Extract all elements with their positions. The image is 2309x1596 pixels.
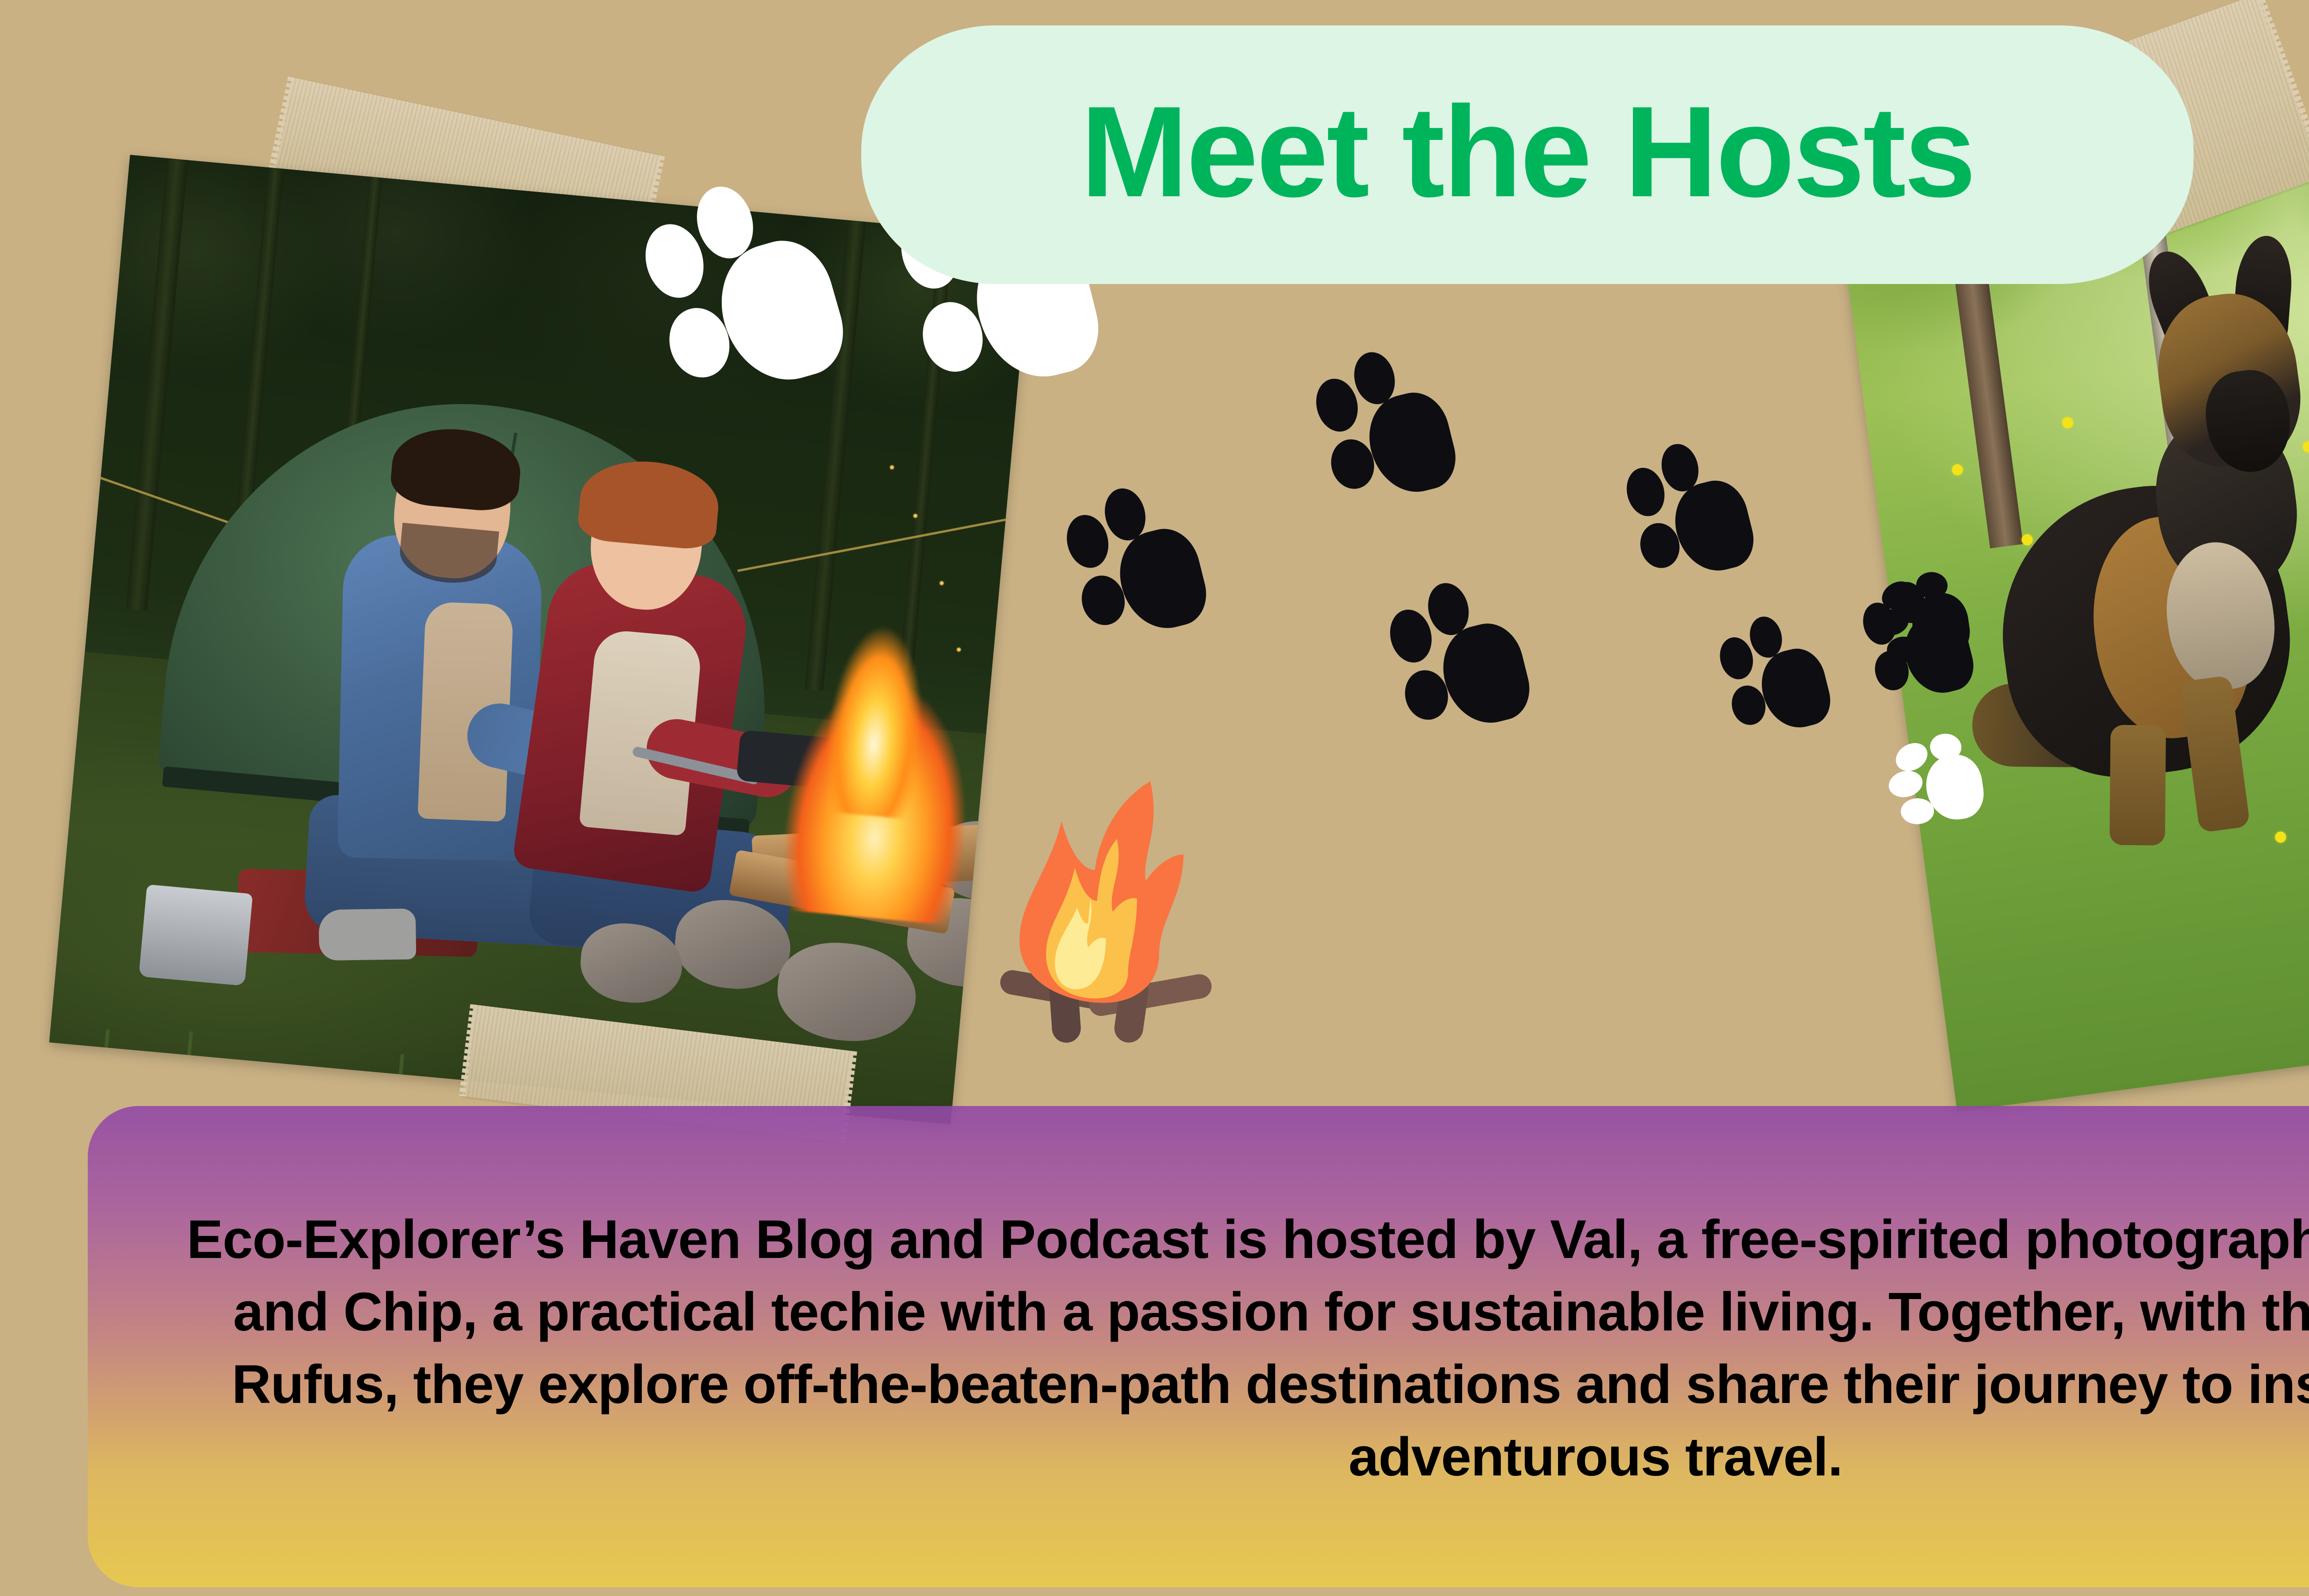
- paw-print-icon: [1882, 722, 2007, 843]
- paw-print-icon: [1868, 561, 1993, 681]
- paw-print-icon: [1712, 603, 1848, 759]
- hosts-description-text: Eco-Explorer’s Haven Blog and Podcast is…: [175, 1203, 2309, 1493]
- poster-canvas: Eco-Explorer’s Haven Blog and Podcast is…: [0, 0, 2309, 1596]
- campfire-couple-photo: [49, 155, 1032, 1124]
- paw-print-icon: [1618, 428, 1776, 606]
- paw-print-icon: [1307, 334, 1483, 534]
- paw-print-icon: [1058, 471, 1233, 670]
- hosts-description-panel: Eco-Explorer’s Haven Blog and Podcast is…: [88, 1106, 2309, 1587]
- page-title-pill: Meet the Hosts: [861, 25, 2194, 284]
- campfire-icon: [993, 776, 1215, 1044]
- page-title: Meet the Hosts: [1081, 87, 1974, 217]
- paw-print-icon: [1381, 565, 1557, 765]
